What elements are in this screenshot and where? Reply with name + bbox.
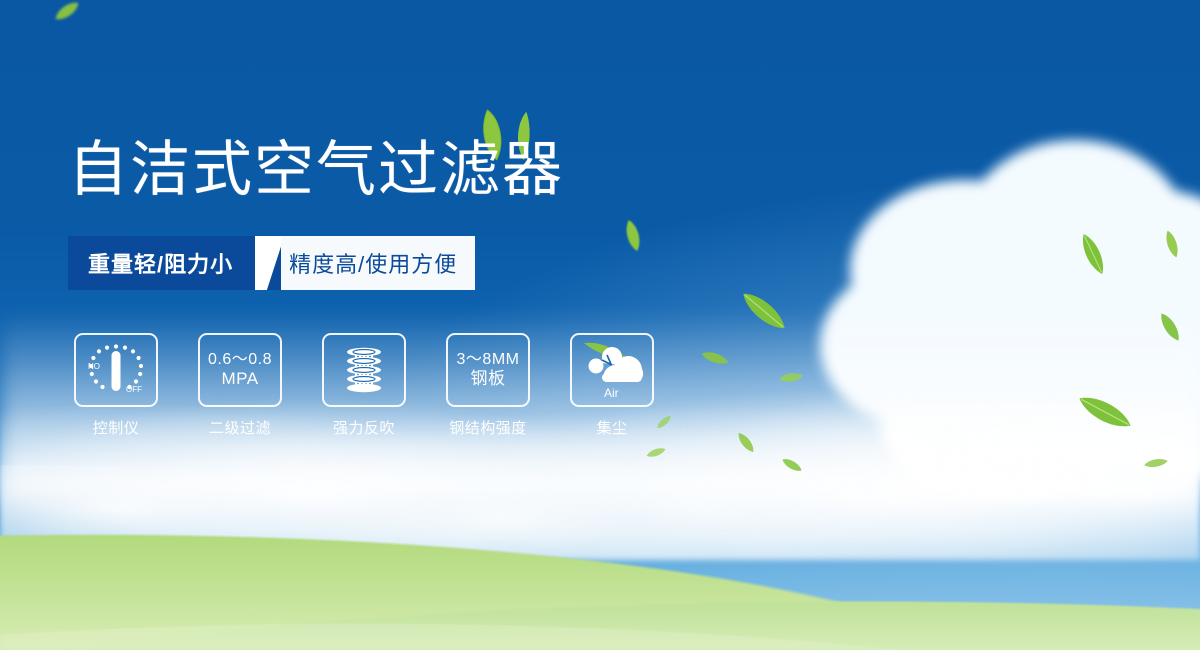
feature-label: 控制仪	[93, 417, 140, 438]
banner-content: 自洁式空气过滤器 重量轻/阻力小 精度高/使用方便	[0, 0, 1200, 650]
subtitle-right: 精度高/使用方便	[281, 236, 475, 290]
feature-icon-box: 3〜8MM 钢板	[446, 333, 530, 407]
feature-label: 强力反吹	[333, 417, 395, 438]
control-dial-icon: NO OFF	[80, 338, 152, 402]
hero-banner: 自洁式空气过滤器 重量轻/阻力小 精度高/使用方便	[0, 0, 1200, 650]
feature-icon-box	[322, 333, 406, 407]
steel-line1: 3〜8MM	[457, 351, 520, 368]
pressure-text-icon: 0.6〜0.8 MPA	[208, 351, 272, 390]
steel-plate-text-icon: 3〜8MM 钢板	[457, 351, 520, 390]
feature-icon-box: Air	[570, 333, 654, 407]
steel-line2: 钢板	[457, 369, 520, 389]
dial-off-label: OFF	[126, 385, 142, 394]
feature-item-filtration[interactable]: 0.6〜0.8 MPA 二级过滤	[192, 333, 288, 438]
subtitle-bar: 重量轻/阻力小 精度高/使用方便	[68, 236, 475, 290]
feature-item-dust[interactable]: Air 集尘	[564, 333, 660, 438]
filter-cartridge-icon	[335, 341, 393, 399]
pressure-line2: MPA	[208, 369, 272, 389]
page-title: 自洁式空气过滤器	[68, 140, 564, 200]
air-caption: Air	[604, 386, 619, 400]
subtitle-left: 重量轻/阻力小	[68, 236, 255, 290]
feature-list: NO OFF 控制仪 0.6〜0.8 MPA 二级过滤	[68, 333, 660, 438]
feature-icon-box: 0.6〜0.8 MPA	[198, 333, 282, 407]
feature-label: 二级过滤	[209, 417, 271, 438]
feature-item-blowback[interactable]: 强力反吹	[316, 333, 412, 438]
feature-item-control[interactable]: NO OFF 控制仪	[68, 333, 164, 438]
pressure-line1: 0.6〜0.8	[208, 351, 272, 368]
dial-no-label: NO	[88, 362, 100, 371]
feature-label: 集尘	[596, 417, 627, 438]
subtitle-divider	[255, 236, 281, 290]
air-cloud-icon: Air	[574, 337, 650, 403]
feature-icon-box: NO OFF	[74, 333, 158, 407]
feature-item-steel[interactable]: 3〜8MM 钢板 钢结构强度	[440, 333, 536, 438]
feature-label: 钢结构强度	[449, 417, 527, 438]
